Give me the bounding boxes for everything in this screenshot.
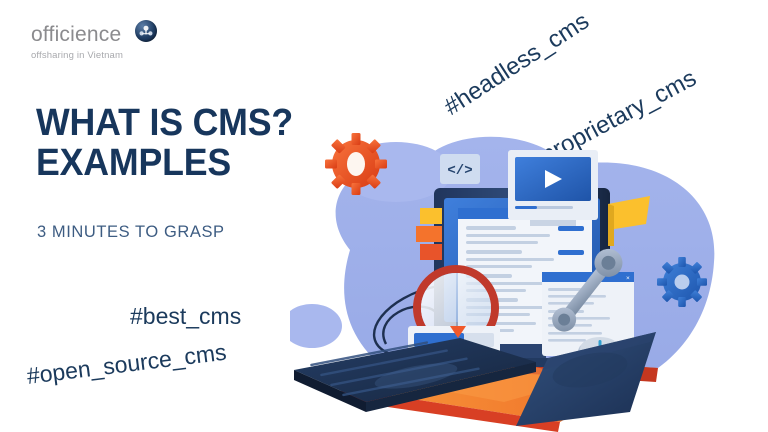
blue-gear-icon [657,257,707,307]
page-subtitle: 3 MINUTES TO GRASP [37,222,225,242]
slide-canvas: officience offsharing in Vietnam WHAT IS… [0,0,768,432]
hashtag-open-source-cms[interactable]: #open_source_cms [25,339,228,390]
cms-workspace-illustration: × [290,130,768,432]
officience-atom-icon [135,20,157,42]
logo-tagline: offsharing in Vietnam [31,51,171,61]
code-icon-glyph: </> [447,163,472,179]
orange-gear-icon [325,133,387,195]
video-player-card [508,150,598,226]
hashtag-best-cms[interactable]: #best_cms [130,303,241,330]
code-icon: </> [440,154,480,184]
svg-text:×: × [626,275,630,282]
hashtag-headless-cms[interactable]: #headless_cms [439,7,594,121]
logo-wordmark: officience [31,24,121,45]
brand-logo[interactable]: officience offsharing in Vietnam [31,24,171,61]
